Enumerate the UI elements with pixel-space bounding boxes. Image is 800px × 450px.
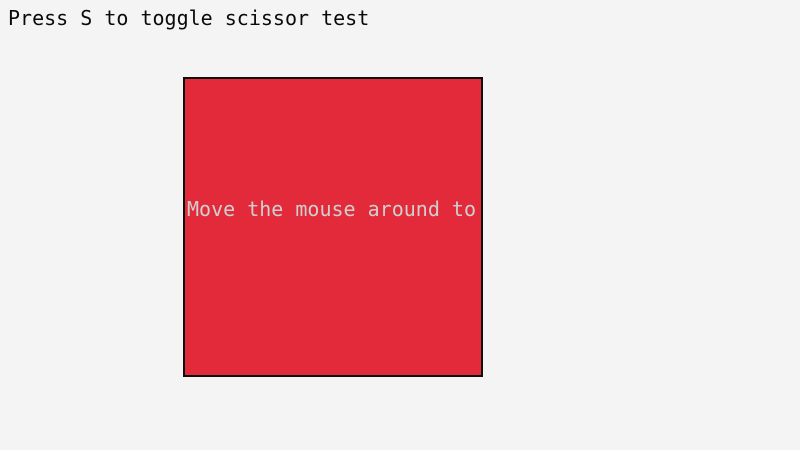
scissor-clipped-message: Move the mouse around to reposition the … <box>187 197 483 221</box>
scissor-rectangle[interactable]: Move the mouse around to reposition the … <box>183 77 483 377</box>
scissor-toggle-hint: Press S to toggle scissor test <box>8 6 369 30</box>
app-canvas: Press S to toggle scissor test Move the … <box>0 0 800 450</box>
